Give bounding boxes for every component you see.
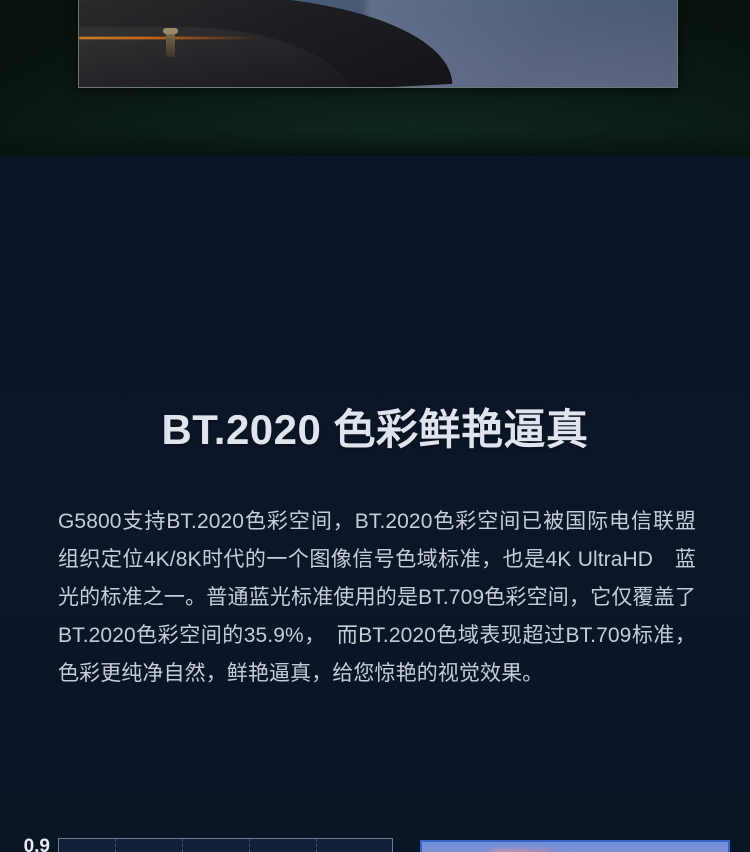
night-harbour-photo [78, 0, 678, 88]
page-title: BT.2020 色彩鲜艳逼真 [0, 396, 750, 457]
feature-section: BT.2020 色彩鲜艳逼真 G5800支持BT.2020色彩空间，BT.202… [0, 156, 750, 852]
lavender-sky [422, 842, 728, 852]
cie-locus-svg [59, 839, 393, 852]
page-root: BT.2020 色彩鲜艳逼真 G5800支持BT.2020色彩空间，BT.202… [0, 0, 750, 852]
cie-chromaticity-chart: 0.9 0.8 0.7 0.6 [0, 834, 400, 852]
lavender-field-sunset-photo [420, 840, 730, 852]
top-banner [0, 0, 750, 156]
y-tick-0: 0.9 [4, 836, 50, 852]
feature-description: G5800支持BT.2020色彩空间，BT.2020色彩空间已被国际电信联盟组织… [58, 503, 696, 693]
chart-y-axis: 0.9 0.8 0.7 0.6 [0, 834, 56, 852]
chart-plot-area: BT.2020 BT.709 [58, 838, 393, 852]
harbour-bollard [166, 31, 175, 57]
cloud-1 [489, 849, 556, 852]
